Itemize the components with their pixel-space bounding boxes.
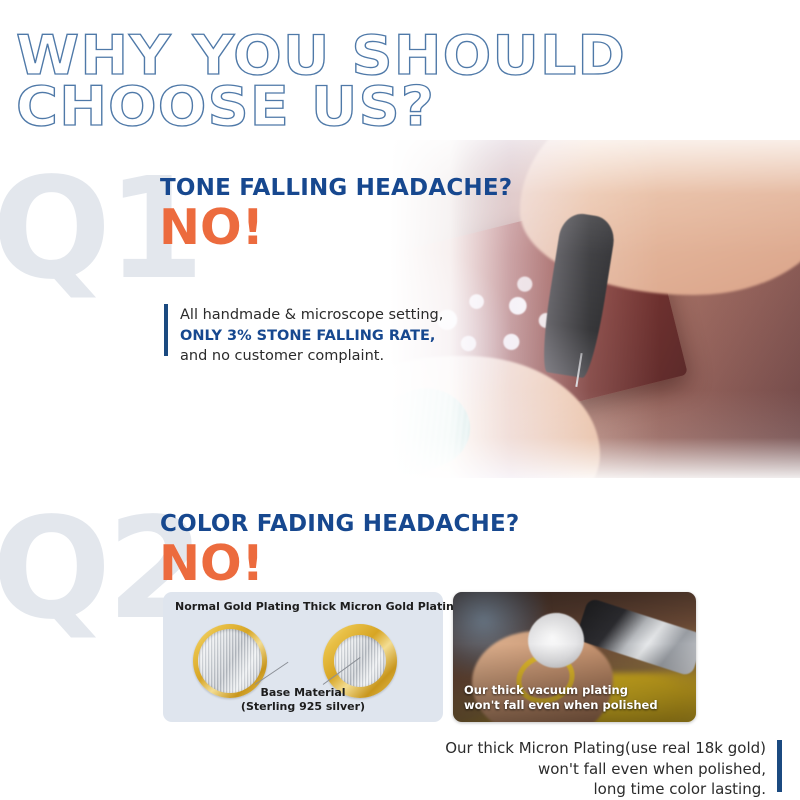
q1-quote-bar	[164, 304, 168, 356]
page-title-line-1: WHY YOU SHOULD	[16, 30, 800, 81]
q1-answer: NO!	[159, 203, 264, 252]
base-material-caption-line-2: (Sterling 925 silver)	[163, 700, 443, 714]
page-title: WHY YOU SHOULD CHOOSE US?	[16, 30, 776, 133]
q1-body-text: All handmade & microscope setting, ONLY …	[180, 305, 443, 367]
q2-photo: Our thick vacuum plating won't fall even…	[453, 592, 696, 722]
plating-label-normal: Normal Gold Plating	[175, 600, 300, 613]
normal-plating-base-material	[198, 629, 262, 693]
infographic-page: WHY YOU SHOULD CHOOSE US? Q1 TONE FALLIN…	[0, 0, 800, 800]
q2-photo-caption-line-2: won't fall even when polished	[464, 698, 658, 713]
q2-answer: NO!	[159, 539, 264, 588]
thick-plating-base-material	[334, 635, 386, 687]
base-material-caption-line-1: Base Material	[163, 686, 443, 700]
q1-body-line-2: ONLY 3% STONE FALLING RATE,	[180, 326, 443, 347]
plating-label-thick: Thick Micron Gold Plating	[303, 600, 462, 613]
q1-heading: TONE FALLING HEADACHE?	[160, 175, 512, 201]
q1-body-line-3: and no customer complaint.	[180, 346, 443, 367]
q2-closing-bar	[777, 740, 782, 792]
q2-closing-line-3: long time color lasting.	[445, 779, 766, 800]
q2-closing-statement: Our thick Micron Plating(use real 18k go…	[445, 738, 766, 800]
q2-photo-caption-line-1: Our thick vacuum plating	[464, 683, 658, 698]
q2-closing-line-2: won't fall even when polished,	[445, 759, 766, 780]
q2-closing-line-1: Our thick Micron Plating(use real 18k go…	[445, 738, 766, 759]
page-title-line-2: CHOOSE US?	[16, 81, 800, 132]
q1-body-line-1: All handmade & microscope setting,	[180, 305, 443, 326]
q2-photo-caption: Our thick vacuum plating won't fall even…	[464, 683, 658, 713]
plating-comparison-panel: Normal Gold Plating Thick Micron Gold Pl…	[163, 592, 443, 722]
base-material-caption: Base Material (Sterling 925 silver)	[163, 686, 443, 714]
q2-heading: COLOR FADING HEADACHE?	[160, 511, 519, 537]
